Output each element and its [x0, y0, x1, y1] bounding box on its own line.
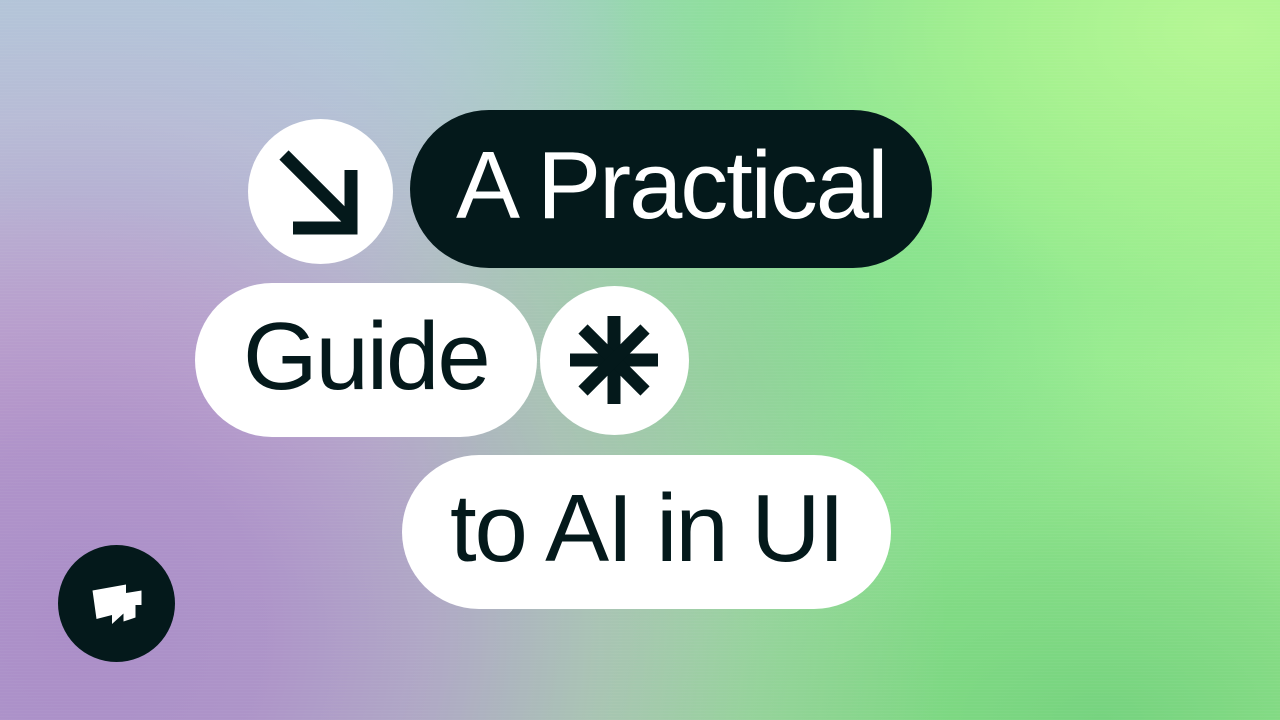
headline-line-1: A Practical — [248, 110, 932, 268]
headline-text-3: to AI in UI — [450, 481, 843, 577]
asterisk-icon — [566, 312, 662, 408]
cover-canvas: A Practical Guide — [0, 0, 1280, 720]
arrow-down-right-badge — [248, 119, 393, 264]
headline-pill-2: Guide — [195, 283, 537, 437]
headline-line-3: to AI in UI — [402, 455, 891, 609]
headline-pill-1: A Practical — [410, 110, 932, 268]
lightning-ribbon-logo-icon — [82, 569, 152, 639]
page-title: A Practical Guide — [0, 0, 1280, 720]
brand-logo-badge — [58, 545, 175, 662]
arrow-down-right-icon — [275, 146, 367, 238]
headline-text-2: Guide — [243, 309, 489, 405]
headline-line-2: Guide — [195, 283, 689, 437]
headline-pill-3: to AI in UI — [402, 455, 891, 609]
asterisk-badge — [540, 286, 689, 435]
headline-text-1: A Practical — [456, 138, 886, 234]
